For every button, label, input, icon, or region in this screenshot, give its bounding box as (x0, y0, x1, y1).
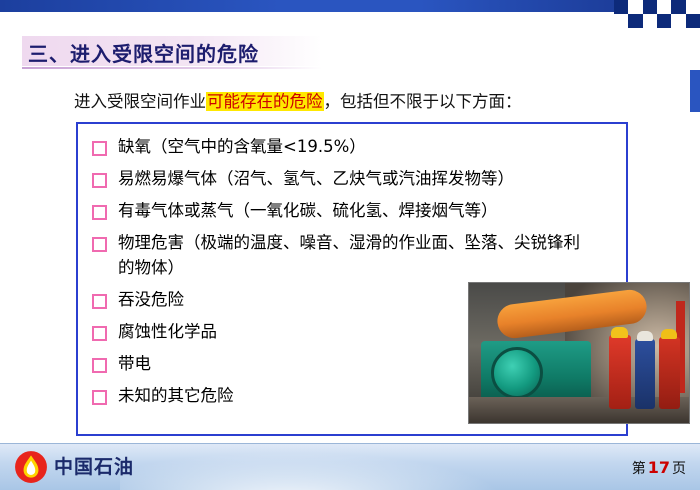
list-item-label: 未知的其它危险 (118, 383, 234, 408)
photo-helmet-yellow (611, 327, 628, 338)
slide-title-block: 三、进入受限空间的危险 (22, 36, 322, 68)
tunnel-photo (468, 282, 690, 424)
page-suffix: 页 (672, 461, 686, 477)
brand-label: 中国石油 (54, 452, 134, 479)
square-bullet-icon (92, 390, 107, 405)
title-underline (22, 67, 322, 69)
right-edge-accent (690, 70, 700, 112)
hazard-list-box: 缺氧（空气中的含氧量<19.5%） 易燃易爆气体（沼气、氢气、乙炔气或汽油挥发物… (76, 122, 628, 436)
list-item: 物理危害（极端的温度、噪音、湿滑的作业面、坠落、尖锐锋利的物体） (92, 230, 612, 280)
photo-worker-red-2 (659, 337, 680, 409)
list-item-label: 易燃易爆气体（沼气、氢气、乙炔气或汽油挥发物等） (118, 166, 514, 191)
page-number-indicator: 第17页 (632, 458, 686, 478)
page-number: 17 (646, 458, 672, 477)
list-item-label: 吞没危险 (118, 287, 184, 312)
photo-worker-blue (635, 339, 655, 409)
top-blue-band (0, 0, 700, 12)
square-bullet-icon (92, 173, 107, 188)
list-item: 易燃易爆气体（沼气、氢气、乙炔气或汽油挥发物等） (92, 166, 612, 191)
square-bullet-icon (92, 205, 107, 220)
lead-highlight: 可能存在的危险 (206, 92, 324, 111)
footer-decoration (120, 444, 540, 490)
petrochina-logo-icon (14, 450, 48, 484)
photo-helmet-yellow-2 (661, 329, 677, 339)
page-prefix: 第 (632, 461, 646, 477)
list-item-label: 带电 (118, 351, 151, 376)
list-item-label: 缺氧（空气中的含氧量<19.5%） (118, 134, 366, 159)
checker-grid (614, 0, 700, 28)
lead-suffix: ，包括但不限于以下方面： (324, 92, 522, 111)
photo-helmet-white (637, 331, 653, 341)
list-item-label: 腐蚀性化学品 (118, 319, 217, 344)
page-title: 三、进入受限空间的危险 (28, 38, 259, 67)
checker-decoration (614, 0, 700, 28)
photo-floor (469, 397, 689, 423)
photo-worker-red (609, 335, 631, 409)
lead-sentence: 进入受限空间作业可能存在的危险，包括但不限于以下方面： (74, 88, 522, 112)
square-bullet-icon (92, 326, 107, 341)
footer-bar: 中国石油 第17页 (0, 443, 700, 490)
list-item: 有毒气体或蒸气（一氧化碳、硫化氢、焊接烟气等） (92, 198, 612, 223)
square-bullet-icon (92, 237, 107, 252)
photo-green-wheel (491, 347, 543, 399)
list-item: 缺氧（空气中的含氧量<19.5%） (92, 134, 612, 159)
lead-prefix: 进入受限空间作业 (74, 92, 206, 111)
list-item-label: 有毒气体或蒸气（一氧化碳、硫化氢、焊接烟气等） (118, 198, 498, 223)
list-item-label: 物理危害（极端的温度、噪音、湿滑的作业面、坠落、尖锐锋利的物体） (118, 230, 588, 280)
square-bullet-icon (92, 141, 107, 156)
square-bullet-icon (92, 358, 107, 373)
square-bullet-icon (92, 294, 107, 309)
